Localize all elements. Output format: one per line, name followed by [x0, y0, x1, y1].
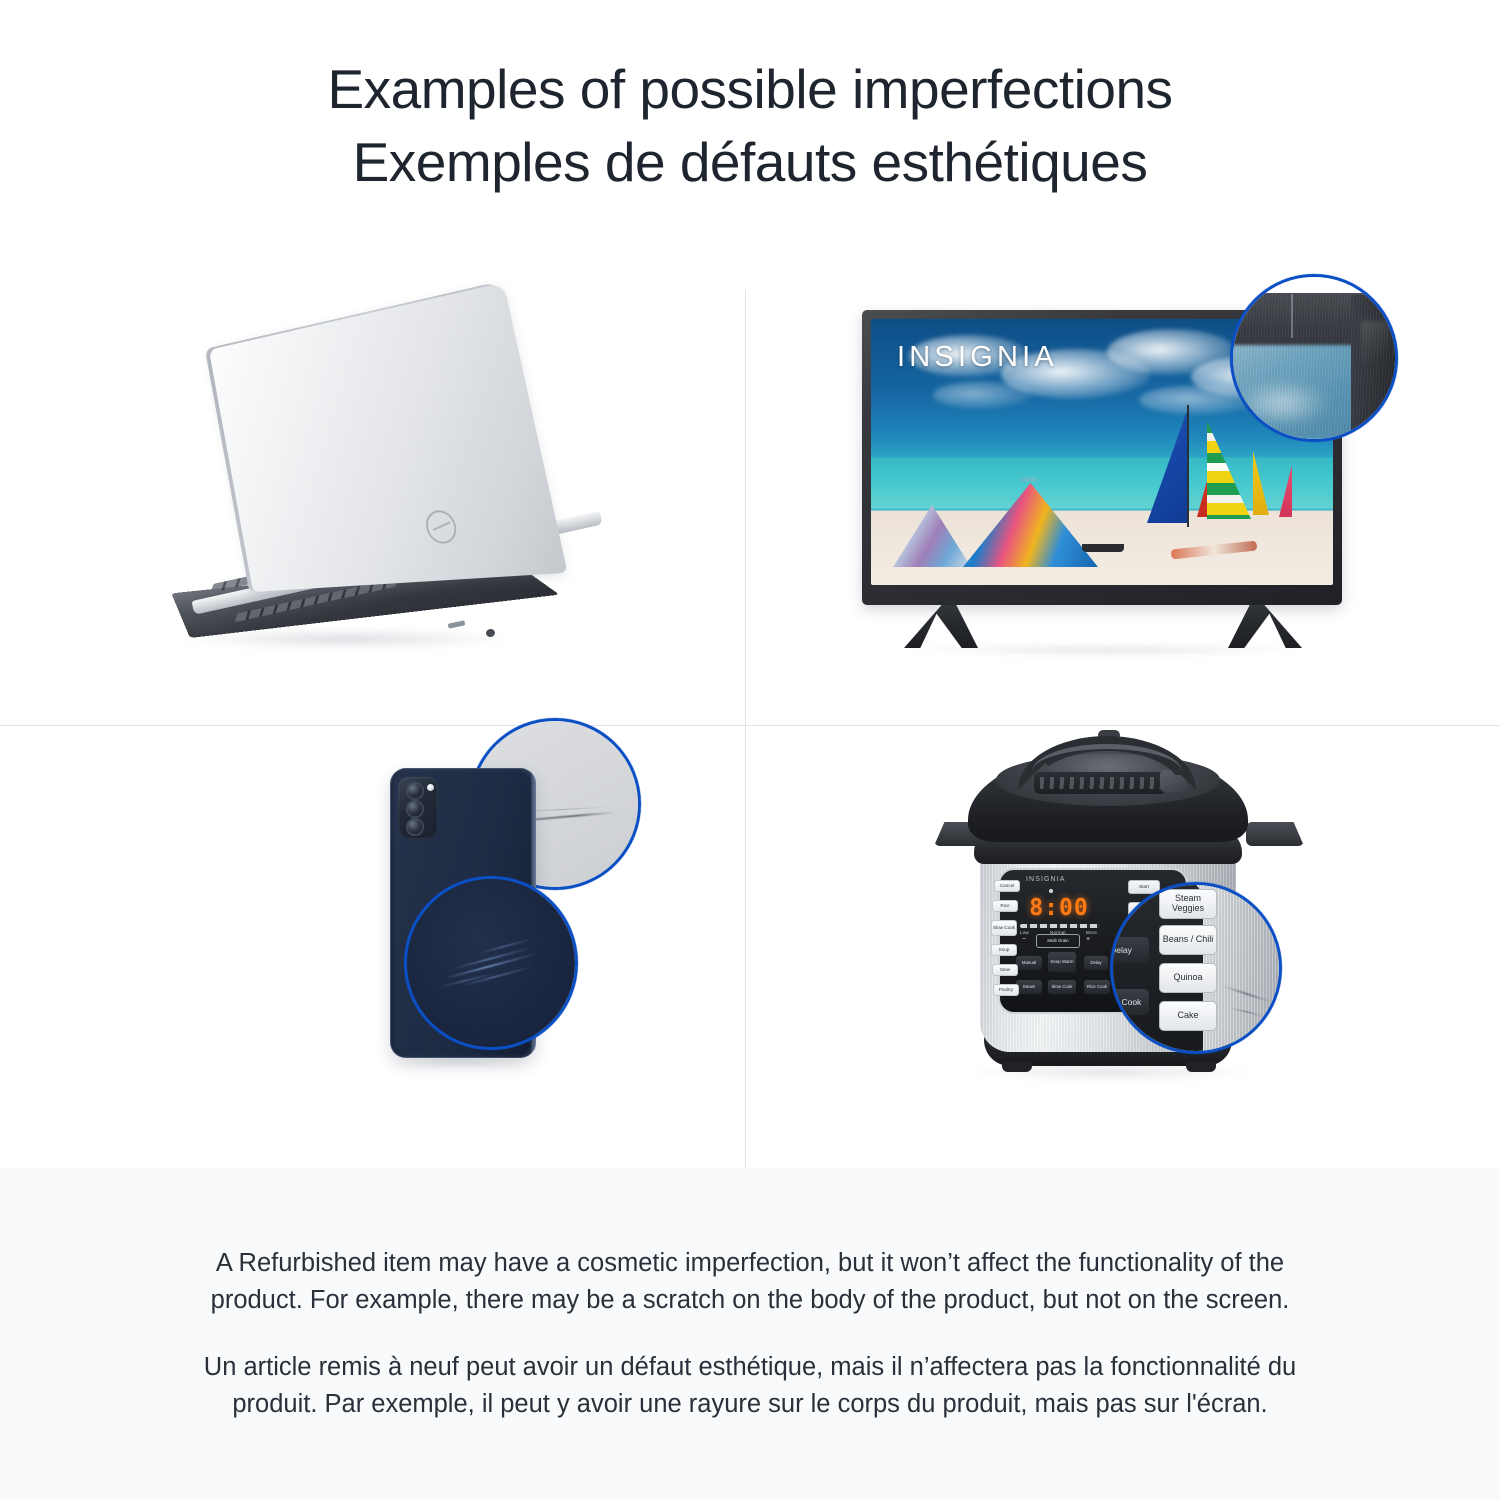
- cooker-button-rice-cook[interactable]: Rice Cook: [1084, 980, 1110, 994]
- tv-bezel-scuff: [1361, 321, 1391, 377]
- magnifier-cooker-surface: Steam Veggies Beans / Chili Quinoa Cake …: [1113, 885, 1279, 1051]
- magnifier-tv-surface: [1233, 277, 1395, 439]
- cooker-button-steam[interactable]: Steam: [1016, 980, 1042, 994]
- footer-paragraph-en: A Refurbished item may have a cosmetic i…: [185, 1245, 1315, 1319]
- cooker-handle-right: [1246, 822, 1304, 846]
- cooker-minus-button[interactable]: −: [1022, 936, 1026, 943]
- footer-description: A Refurbished item may have a cosmetic i…: [0, 1168, 1500, 1500]
- panel-smartphone: [0, 726, 745, 1168]
- cooker-indicator-light: [1049, 889, 1053, 893]
- pressure-cooker-illustration: INSIGNIA 8:00 Low Normal More Multi Grai…: [746, 726, 1500, 1168]
- cooker-button-slow-cook[interactable]: Slow Cook: [1048, 980, 1076, 994]
- cooker-foot: [1002, 1062, 1032, 1072]
- tv-scene-sail-navy: [1147, 411, 1187, 523]
- television-illustration: INSIGNIA: [746, 252, 1500, 725]
- tv-brand-logo: INSIGNIA: [897, 341, 1058, 374]
- cooker-button-poultry[interactable]: Poultry: [993, 984, 1019, 996]
- cooker-button-keep-warm[interactable]: Keep Warm: [1048, 952, 1076, 972]
- panel-laptop: [0, 252, 745, 725]
- cooker-button-manual[interactable]: Manual: [1016, 956, 1042, 970]
- cooker-brand-label: INSIGNIA: [1026, 876, 1066, 883]
- cooker-magnified-button-quinoa[interactable]: Quinoa: [1159, 963, 1217, 993]
- cooker-plus-button[interactable]: +: [1086, 936, 1090, 943]
- tv-bottom-bezel-badge: [1082, 544, 1124, 552]
- cooker-button-soup[interactable]: Soup: [991, 944, 1017, 956]
- tv-scene-beached-boat: [1171, 541, 1258, 560]
- cooker-button-stew[interactable]: Stew: [992, 964, 1018, 976]
- cooker-magnified-button-steam-veggies[interactable]: Steam Veggies: [1159, 889, 1217, 919]
- cooker-magnified-button-slow-cook[interactable]: Slow Cook: [1110, 989, 1149, 1015]
- page-header: Examples of possible imperfections Exemp…: [0, 0, 1500, 252]
- tv-leg-left: [904, 604, 978, 648]
- smartphone-illustration: [0, 726, 745, 1168]
- tv-scene-sail-foreground-a: [893, 505, 971, 567]
- cooker-magnified-button-beans-chili[interactable]: Beans / Chili: [1159, 925, 1217, 955]
- tv-scene-sail-foreground-b: [963, 483, 1098, 567]
- cooker-button-cancel[interactable]: Cancel: [994, 880, 1020, 892]
- phone-scratch: [438, 972, 499, 989]
- phone-scratch: [460, 965, 536, 987]
- tv-scene-sail-pink: [1279, 465, 1292, 517]
- tv-scene-mast: [1187, 405, 1189, 527]
- cooker-button-delay[interactable]: Delay: [1084, 956, 1108, 970]
- laptop-usb-port: [448, 620, 466, 628]
- phone-scratch: [478, 938, 535, 955]
- cooker-time-display: 8:00: [1022, 896, 1096, 920]
- cooker-button-rice[interactable]: Rice: [992, 900, 1018, 912]
- footer-paragraph-fr: Un article remis à neuf peut avoir un dé…: [185, 1349, 1315, 1423]
- page-title-fr: Exemples de défauts esthétiques: [353, 126, 1148, 199]
- tv-scene-sail-yellow: [1253, 451, 1269, 515]
- magnifier-tv: [1230, 274, 1398, 442]
- laptop-lid: [209, 282, 568, 592]
- product-examples-grid: INSIGNIA: [0, 252, 1500, 1168]
- cooker-foot: [1186, 1062, 1216, 1072]
- magnifier-phone: [404, 876, 578, 1050]
- refurbished-imperfections-infographic: Examples of possible imperfections Exemp…: [0, 0, 1500, 1500]
- tv-leg-right: [1228, 604, 1302, 648]
- cooker-magnified-button-delay[interactable]: Delay: [1110, 937, 1149, 963]
- tv-scene-cloud: [933, 381, 1033, 409]
- magnifier-cooker: Steam Veggies Beans / Chili Quinoa Cake …: [1110, 882, 1282, 1054]
- cooker-pressure-scale: [1020, 924, 1100, 928]
- panel-pressure-cooker: INSIGNIA 8:00 Low Normal More Multi Grai…: [746, 726, 1500, 1168]
- cooker-scale-label-more: More: [1086, 930, 1097, 935]
- cooker-mode-selector[interactable]: Multi Grain: [1036, 934, 1080, 948]
- cooker-magnified-button-cake[interactable]: Cake: [1159, 1001, 1217, 1031]
- laptop-illustration: [0, 252, 745, 725]
- tv-bezel-seam: [1291, 294, 1293, 338]
- tv-scene-distant-boat: [1021, 477, 1037, 482]
- cooker-button-slow-cook-left[interactable]: Slow Cook: [991, 920, 1017, 936]
- tv-shadow: [896, 644, 1316, 656]
- cooker-scale-label-low: Low: [1020, 930, 1029, 935]
- panel-television: INSIGNIA: [746, 252, 1500, 725]
- page-title-en: Examples of possible imperfections: [327, 53, 1172, 126]
- magnifier-phone-surface: [407, 879, 575, 1047]
